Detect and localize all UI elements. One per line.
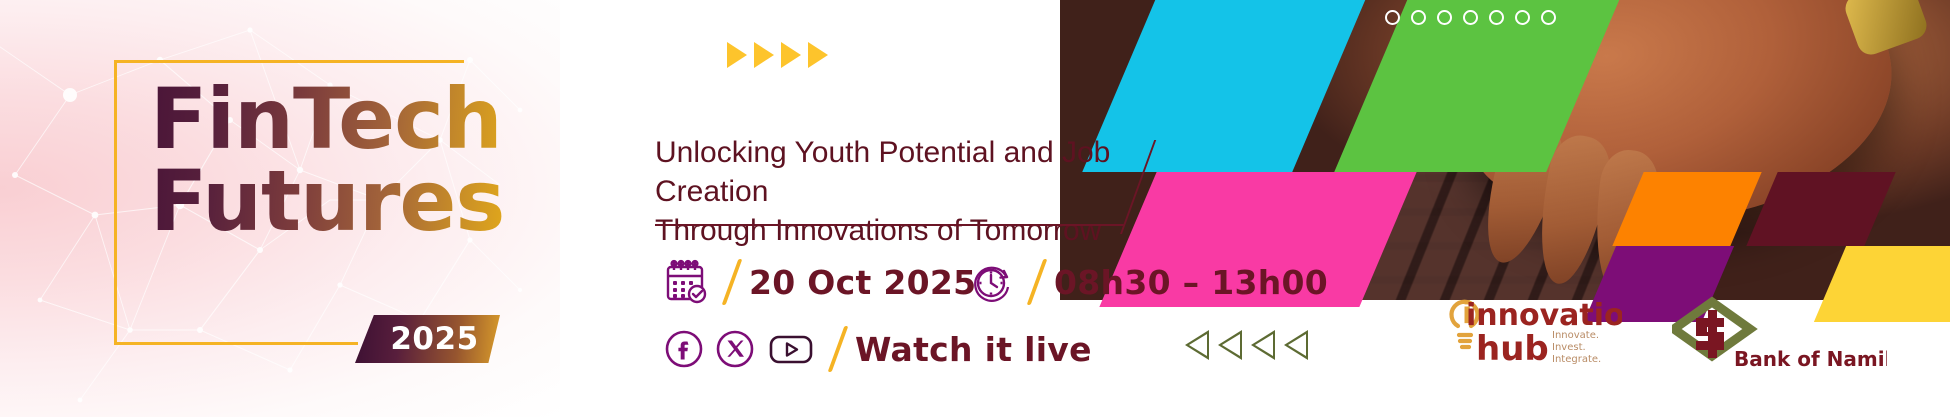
play-triangle-left-icon xyxy=(1218,330,1242,360)
gold-slash-divider xyxy=(719,259,745,305)
clock-icon xyxy=(968,258,1016,306)
innovation-hub-name-line-1: innovation xyxy=(1466,298,1622,333)
play-triangle-right-icon xyxy=(727,42,747,68)
arrow-row-right xyxy=(727,42,828,68)
dot-icon xyxy=(1489,10,1504,25)
youtube-icon[interactable] xyxy=(765,328,817,370)
frame-border-bottom xyxy=(114,342,358,345)
event-date: 20 Oct 2025 xyxy=(749,263,976,302)
innovation-hub-tagline-2: Invest. xyxy=(1552,342,1586,353)
dot-icon xyxy=(1385,10,1400,25)
social-links xyxy=(663,328,817,370)
play-triangle-left-icon xyxy=(1185,330,1209,360)
tagline-underline xyxy=(655,224,1125,226)
dot-icon xyxy=(1411,10,1426,25)
dot-row-decoration xyxy=(1385,10,1556,25)
dot-icon xyxy=(1541,10,1556,25)
watch-live-label[interactable]: Watch it live xyxy=(855,330,1092,369)
event-time: 08h30 – 13h00 xyxy=(1054,263,1328,302)
gold-slash-divider xyxy=(1024,259,1050,305)
innovation-hub-name-line-2: hub xyxy=(1476,329,1549,369)
innovation-hub-tagline-1: Innovate. xyxy=(1552,330,1599,341)
watch-live-row: Watch it live xyxy=(663,326,1092,372)
frame-border-top xyxy=(114,60,464,63)
event-title: FinTechFutures xyxy=(150,78,504,243)
event-title-line-2: Futures xyxy=(150,152,504,250)
play-triangle-left-icon xyxy=(1284,330,1308,360)
bank-of-namibia-name: Bank of Namibia xyxy=(1734,347,1887,371)
time-row: 08h30 – 13h00 xyxy=(968,258,1328,306)
play-triangle-right-icon xyxy=(754,42,774,68)
innovation-hub-tagline-3: Integrate. xyxy=(1552,354,1601,365)
play-triangle-left-icon xyxy=(1251,330,1275,360)
play-triangle-right-icon xyxy=(808,42,828,68)
innovation-hub-logo: i innovation hub Innovate. Invest. Integ… xyxy=(1432,288,1622,370)
facebook-icon[interactable] xyxy=(663,328,705,370)
x-twitter-icon[interactable] xyxy=(714,328,756,370)
play-triangle-right-icon xyxy=(781,42,801,68)
dot-icon xyxy=(1515,10,1530,25)
bank-of-namibia-logo: Bank of Namibia xyxy=(1672,296,1887,372)
arrow-row-left xyxy=(1185,330,1308,360)
year-badge-label: 2025 xyxy=(376,321,478,357)
calendar-check-icon xyxy=(663,258,711,306)
dot-icon xyxy=(1437,10,1452,25)
gold-slash-divider xyxy=(825,326,851,372)
frame-border-left xyxy=(114,60,117,345)
fintech-futures-banner: FinTechFutures 2025 Unlocking Youth Pote… xyxy=(0,0,1950,417)
event-tagline: Unlocking Youth Potential and Job Creati… xyxy=(655,133,1195,250)
dot-icon xyxy=(1463,10,1478,25)
year-badge: 2025 xyxy=(355,315,500,363)
date-row: 20 Oct 2025 xyxy=(663,258,976,306)
